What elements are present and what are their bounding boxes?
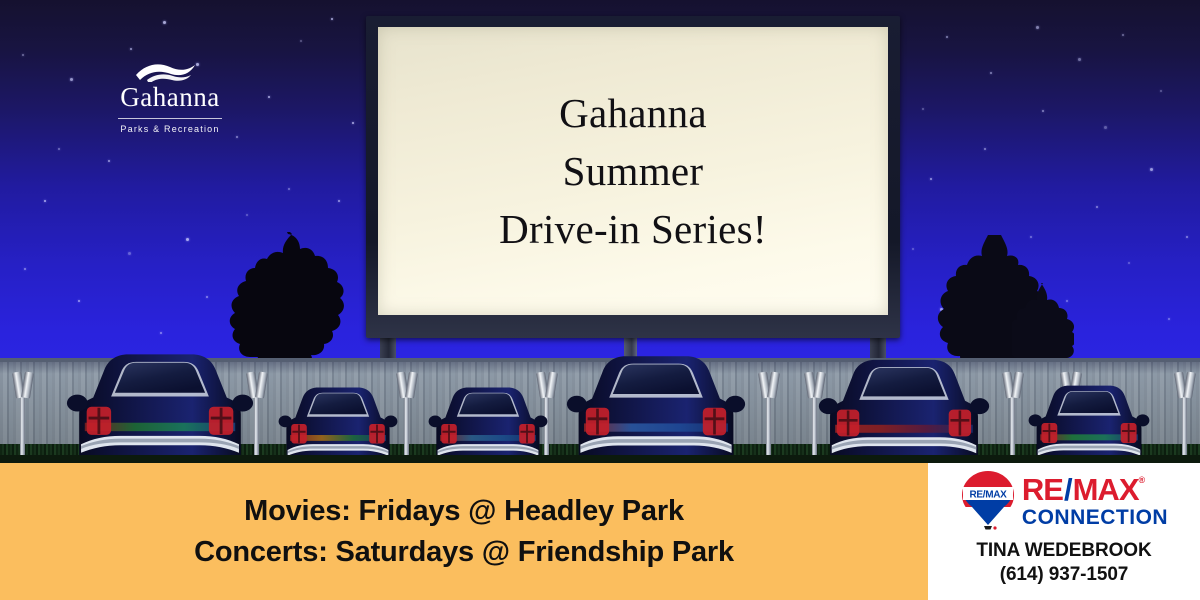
registered-mark: ® — [1139, 476, 1145, 485]
parked-car — [566, 347, 746, 463]
screen-line-1: Gahanna — [559, 86, 707, 140]
agent-name: TINA WEDEBROOK — [976, 540, 1151, 562]
speaker-pole-shaft — [254, 390, 259, 460]
gahanna-parks-logo: Gahanna Parks & Recreation — [100, 60, 240, 138]
speaker-pole-shaft — [20, 390, 25, 460]
speaker-pole — [1004, 372, 1022, 462]
speaker-pole-shaft — [766, 390, 771, 460]
banner-text-block: Movies: Fridays @ Headley Park Concerts:… — [0, 463, 928, 600]
agent-phone: (614) 937-1507 — [1000, 564, 1129, 586]
info-banner: Movies: Fridays @ Headley Park Concerts:… — [0, 463, 1200, 600]
logo-subtitle: Parks & Recreation — [100, 124, 240, 134]
parked-car — [818, 351, 990, 463]
remax-slash-text: / — [1063, 474, 1073, 505]
banner-line-concerts: Concerts: Saturdays @ Friendship Park — [194, 535, 734, 569]
ground-shadow-edge — [0, 455, 1200, 463]
drive-in-screen: Gahanna Summer Drive-in Series! — [366, 16, 900, 338]
banner-line-movies: Movies: Fridays @ Headley Park — [244, 494, 684, 528]
parked-car — [428, 381, 548, 463]
speaker-pole — [1176, 372, 1194, 462]
parked-car — [278, 381, 398, 463]
parked-car — [66, 345, 254, 463]
remax-balloon-icon: RE/MAX — [960, 470, 1016, 532]
screen-line-3: Drive-in Series! — [499, 202, 767, 256]
speaker-pole-shaft — [404, 390, 409, 460]
screen-surface: Gahanna Summer Drive-in Series! — [378, 27, 888, 315]
remax-office-text: CONNECTION — [1022, 507, 1168, 528]
screen-line-2: Summer — [563, 144, 704, 198]
parked-car — [1028, 379, 1150, 463]
speaker-pole — [14, 372, 32, 462]
logo-name: Gahanna — [100, 84, 240, 111]
remax-max-text: MAX — [1073, 474, 1139, 505]
logo-divider — [118, 118, 222, 119]
speaker-pole-shaft — [1010, 390, 1015, 460]
speaker-pole-shaft — [812, 390, 817, 460]
speaker-pole — [398, 372, 416, 462]
wave-swoosh-icon — [133, 60, 207, 82]
remax-brand-line: RE/MAX® — [1022, 474, 1168, 505]
speaker-pole-shaft — [1182, 390, 1187, 460]
drive-in-event-poster: Gahanna Parks & Recreation Gahanna Summe… — [0, 0, 1200, 600]
remax-logo-row: RE/MAX RE/MAX® CONNECTION — [960, 470, 1168, 532]
tree-silhouette-left — [222, 232, 362, 358]
sponsor-panel: RE/MAX RE/MAX® CONNECTION TINA WEDEBROOK… — [928, 463, 1200, 600]
speaker-pole — [760, 372, 778, 462]
svg-text:RE/MAX: RE/MAX — [969, 489, 1007, 500]
remax-re-text: RE — [1022, 474, 1063, 505]
remax-wordmark: RE/MAX® CONNECTION — [1022, 474, 1168, 528]
